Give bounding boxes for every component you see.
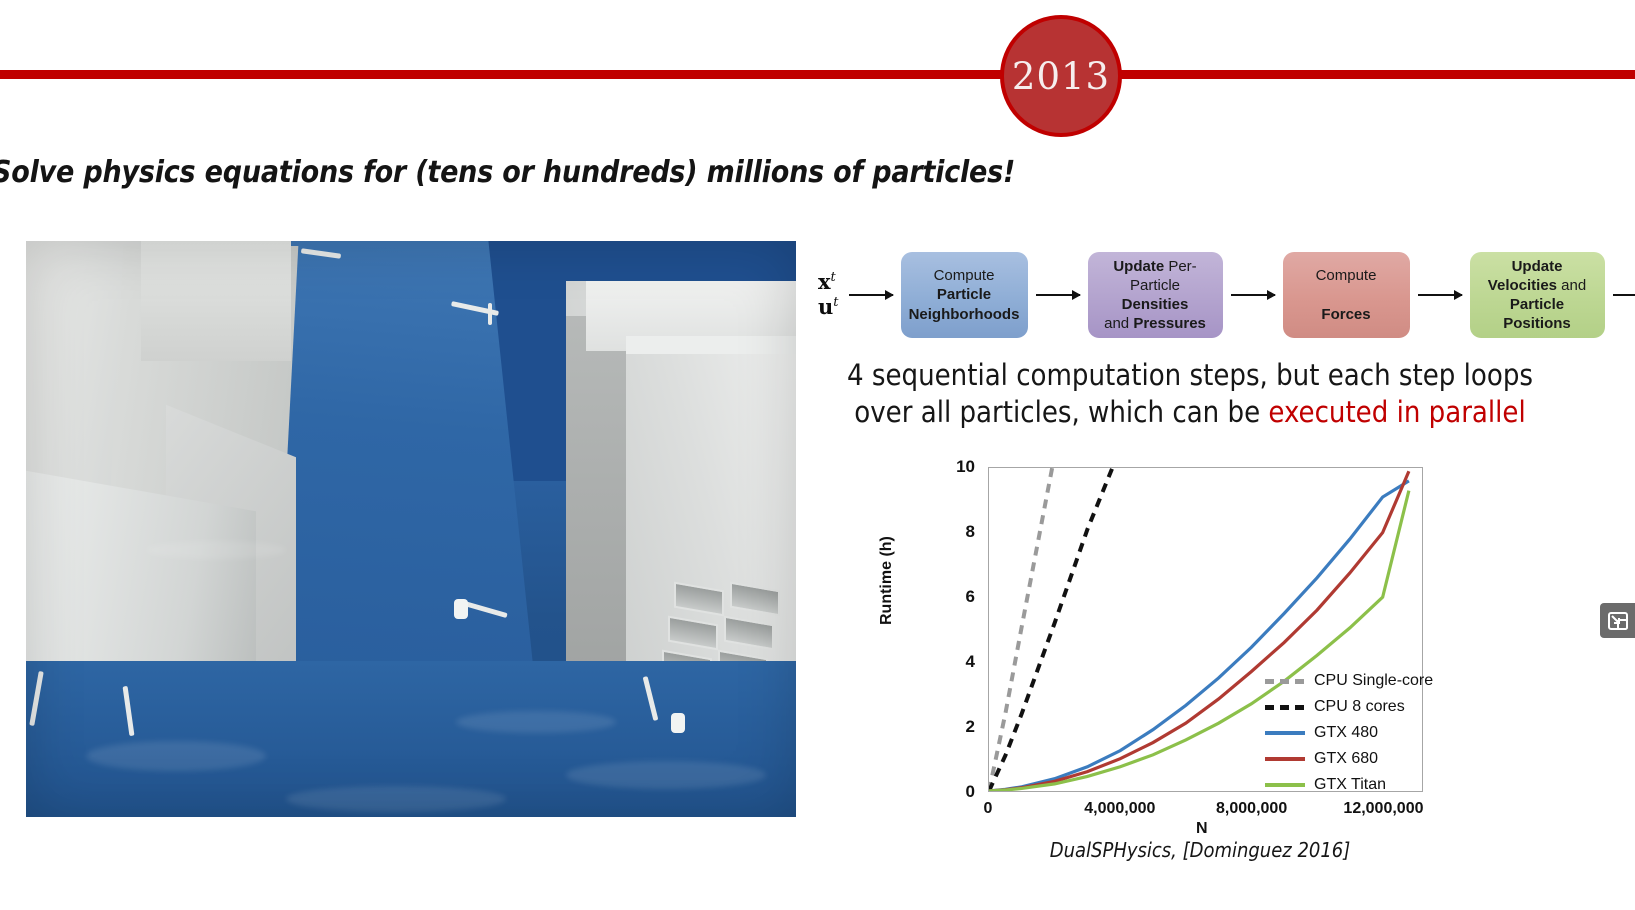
body-copy: 4 sequential computation steps, but each… <box>810 357 1570 431</box>
chart-caption: DualSPHysics, [Dominguez 2016] <box>1020 838 1380 862</box>
chart-legend-item: CPU 8 cores <box>1265 698 1433 716</box>
chart-y-tick: 4 <box>935 652 975 672</box>
timeline-year-label: 2013 <box>1012 55 1110 98</box>
computation-pipeline: xt ut Compute ParticleNeighborhoods Upda… <box>818 245 1635 345</box>
video-street-lamp <box>488 303 492 325</box>
chart-y-tick: 2 <box>935 717 975 737</box>
pipeline-step-positions[interactable]: UpdateVelocities andParticle Positions <box>1470 252 1605 338</box>
pipeline-input-variables: xt ut <box>818 270 839 320</box>
chart-legend-item: GTX 480 <box>1265 724 1433 742</box>
body-copy-accent: executed in parallel <box>1268 395 1525 429</box>
chart-y-tick: 8 <box>935 522 975 542</box>
chart-x-tick: 4,000,000 <box>1084 800 1155 818</box>
chart-legend-swatch <box>1265 679 1305 684</box>
pipeline-step-densities[interactable]: Update Per-Particle Densitiesand Pressur… <box>1088 252 1223 338</box>
chart-legend-label: GTX 480 <box>1314 724 1378 742</box>
pipeline-step-forces[interactable]: ComputeForces <box>1283 252 1410 338</box>
picture-in-picture-icon <box>1608 612 1628 630</box>
video-foam <box>286 786 506 812</box>
chart-legend: CPU Single-coreCPU 8 coresGTX 480GTX 680… <box>1265 672 1433 794</box>
pipeline-arrow <box>1418 294 1462 296</box>
pipeline-step-label: ComputeForces <box>1316 266 1377 324</box>
body-copy-line1: 4 sequential computation steps, but each… <box>847 358 1533 392</box>
body-copy-line2-prefix: over all particles, which can be <box>854 395 1268 429</box>
chart-legend-swatch <box>1265 731 1305 735</box>
pipeline-arrow <box>849 294 893 296</box>
chart-legend-item: GTX Titan <box>1265 776 1433 794</box>
chart-x-tick: 12,000,000 <box>1343 800 1423 818</box>
video-street-lamp-head <box>671 713 685 733</box>
video-building-left-tower <box>141 241 291 361</box>
chart-y-tick: 6 <box>935 587 975 607</box>
input-var-x: xt <box>818 269 836 294</box>
input-var-u: ut <box>818 294 839 319</box>
chart-y-tick: 0 <box>935 782 975 802</box>
pipeline-step-label: Compute ParticleNeighborhoods <box>909 266 1020 324</box>
chart-legend-label: GTX 680 <box>1314 750 1378 768</box>
chart-x-axis-label: N <box>1196 820 1208 838</box>
video-foam <box>456 711 616 733</box>
timeline-year-badge: 2013 <box>1000 15 1122 137</box>
pipeline-step-label: Update Per-Particle Densitiesand Pressur… <box>1096 257 1215 334</box>
chart-legend-swatch <box>1265 783 1305 787</box>
pipeline-arrow <box>1036 294 1080 296</box>
video-foam <box>86 741 266 771</box>
chart-legend-swatch <box>1265 705 1305 710</box>
chart-legend-item: GTX 680 <box>1265 750 1433 768</box>
chart-legend-item: CPU Single-core <box>1265 672 1433 690</box>
fluid-simulation-video[interactable] <box>26 241 796 817</box>
pipeline-arrow <box>1231 294 1275 296</box>
video-foam <box>566 761 766 789</box>
chart-legend-label: GTX Titan <box>1314 776 1386 794</box>
pipeline-arrow <box>1613 294 1635 296</box>
chart-legend-swatch <box>1265 757 1305 761</box>
chart-x-tick: 0 <box>984 800 993 818</box>
timeline-rule <box>0 70 1635 79</box>
video-building-right-ledge <box>626 336 796 354</box>
chart-y-axis-label: Runtime (h) <box>878 536 896 625</box>
pipeline-step-neighborhoods[interactable]: Compute ParticleNeighborhoods <box>901 252 1028 338</box>
chart-legend-label: CPU 8 cores <box>1314 698 1405 716</box>
chart-x-tick: 8,000,000 <box>1216 800 1287 818</box>
video-street-lamp-head <box>454 599 468 619</box>
chart-series-line <box>989 468 1055 791</box>
chart-legend-label: CPU Single-core <box>1314 672 1433 690</box>
video-foam <box>146 541 286 559</box>
chart-y-tick: 10 <box>935 457 975 477</box>
picture-in-picture-button[interactable] <box>1600 603 1635 638</box>
page-headline: Solve physics equations for (tens or hun… <box>0 155 892 190</box>
chart-series-line <box>989 468 1120 791</box>
pipeline-step-label: UpdateVelocities andParticle Positions <box>1478 257 1597 334</box>
runtime-chart: Runtime (h) N 0246810 04,000,0008,000,00… <box>900 450 1500 870</box>
